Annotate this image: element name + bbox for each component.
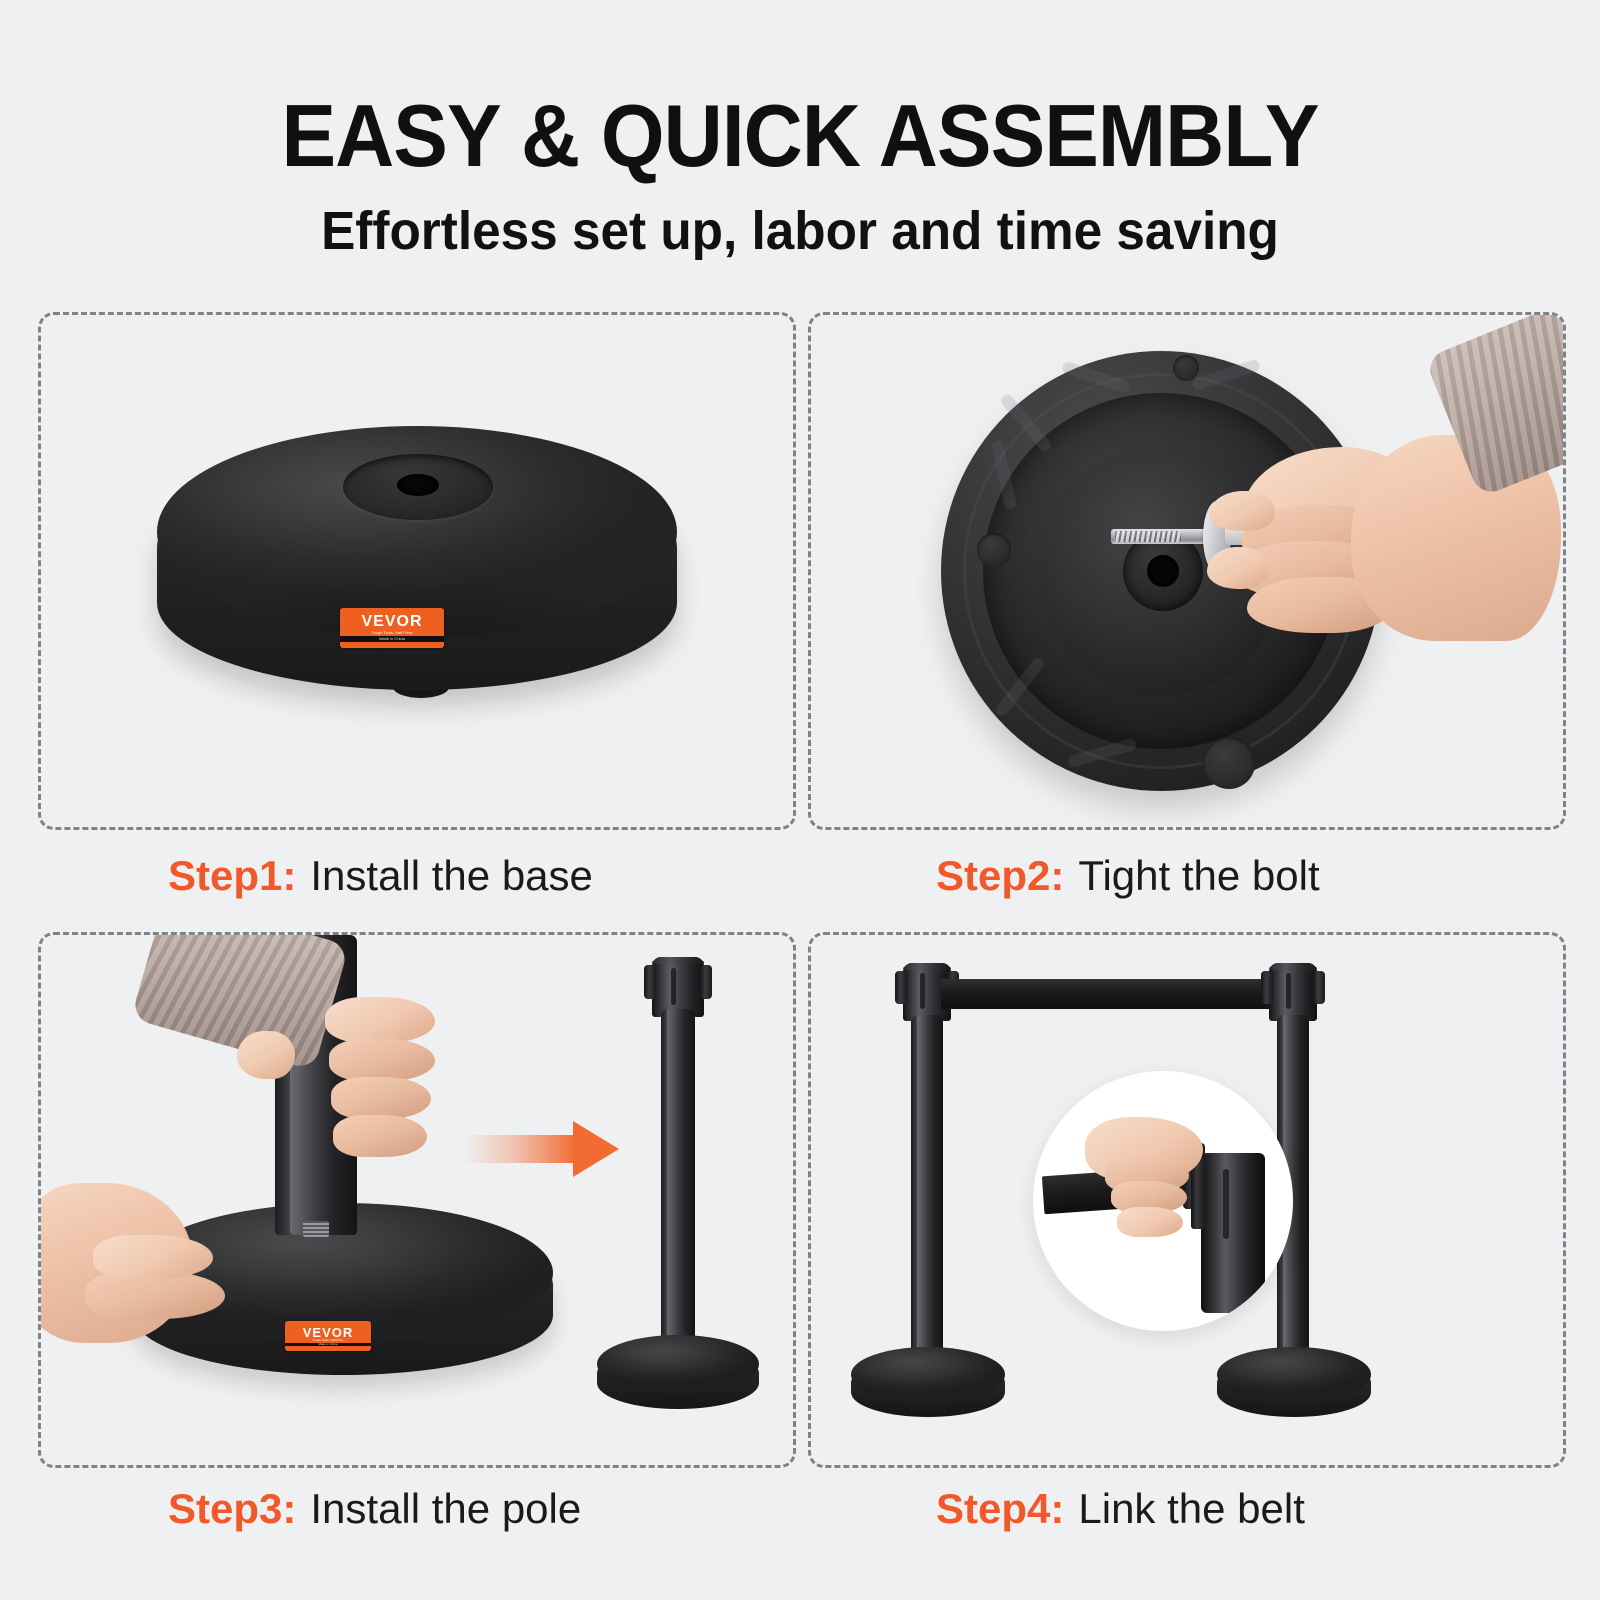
base-mount-boss — [1203, 737, 1255, 789]
step1-colon: : — [282, 852, 296, 899]
vevor-brand-text: VEVOR — [361, 614, 422, 630]
base-mount-boss — [1173, 355, 1199, 381]
step4-label: Step4 — [936, 1485, 1050, 1532]
step3-label: Step3 — [168, 1485, 282, 1532]
step2-description: Tight the bolt — [1078, 852, 1319, 899]
vevor-tagline-text: Tough Tools, Half Price — [313, 1339, 344, 1342]
vevor-footer-text: Made in China — [285, 1343, 371, 1346]
step3-description: Install the pole — [310, 1485, 581, 1532]
stanchion-base: VEVOR Made in China — [1217, 1347, 1371, 1417]
belt-clip-closeup-inset — [1033, 1071, 1293, 1331]
step1-image-panel: VEVOR Tough Tools, Half Price Made in Ch… — [38, 312, 796, 830]
step1-caption: Step1:Install the base — [168, 855, 593, 897]
inset-post-head — [1201, 1153, 1265, 1313]
step3-caption: Step3:Install the pole — [168, 1488, 581, 1530]
base-disc: VEVOR Tough Tools, Half Price Made in Ch… — [157, 426, 677, 716]
base-bolt-hole — [397, 474, 439, 496]
step3-image-panel: VEVOR Tough Tools, Half Price Made in Ch… — [38, 932, 796, 1468]
belt-retractor-head — [652, 957, 704, 1017]
base-disc-illustration: VEVOR Tough Tools, Half Price Made in Ch… — [157, 426, 677, 716]
bolt-threads — [1115, 531, 1181, 542]
step4-caption: Step4:Link the belt — [936, 1488, 1305, 1530]
base-threaded-hole — [1147, 555, 1179, 587]
step2-image-panel — [808, 312, 1566, 830]
step2-label: Step2 — [936, 852, 1050, 899]
header: EASY & QUICK ASSEMBLY Effortless set up,… — [0, 0, 1600, 258]
belt-retractor-head — [1269, 963, 1317, 1021]
step4-description: Link the belt — [1078, 1485, 1305, 1532]
step2-caption: Step2:Tight the bolt — [936, 855, 1320, 897]
base-mount-boss — [977, 533, 1011, 567]
vevor-tagline-text: Tough Tools, Half Price — [372, 631, 413, 635]
step1-description: Install the base — [310, 852, 593, 899]
stanchion-base: VEVOR Made in China — [597, 1335, 759, 1409]
step2-colon: : — [1050, 852, 1064, 899]
vevor-brand-label: VEVOR Tough Tools, Half Price Made in Ch… — [285, 1321, 371, 1351]
vevor-brand-label: VEVOR Tough Tools, Half Price Made in Ch… — [340, 608, 444, 648]
vevor-footer-text: Made in China — [340, 636, 444, 642]
step3-colon: : — [282, 1485, 296, 1532]
page-subtitle: Effortless set up, labor and time saving — [40, 204, 1560, 258]
page-title: EASY & QUICK ASSEMBLY — [56, 92, 1544, 180]
stanchion-pole — [911, 1015, 943, 1367]
pole-threaded-bolt — [303, 1221, 329, 1237]
retractable-belt — [941, 979, 1273, 1009]
stanchion-pole — [661, 1009, 695, 1353]
step1-label: Step1 — [168, 852, 282, 899]
right-arrow-icon — [465, 1121, 621, 1177]
stanchion-base: VEVOR Made in China — [851, 1347, 1005, 1417]
step4-colon: : — [1050, 1485, 1064, 1532]
step4-image-panel: VEVOR Made in China VEVOR Made in China — [808, 932, 1566, 1468]
